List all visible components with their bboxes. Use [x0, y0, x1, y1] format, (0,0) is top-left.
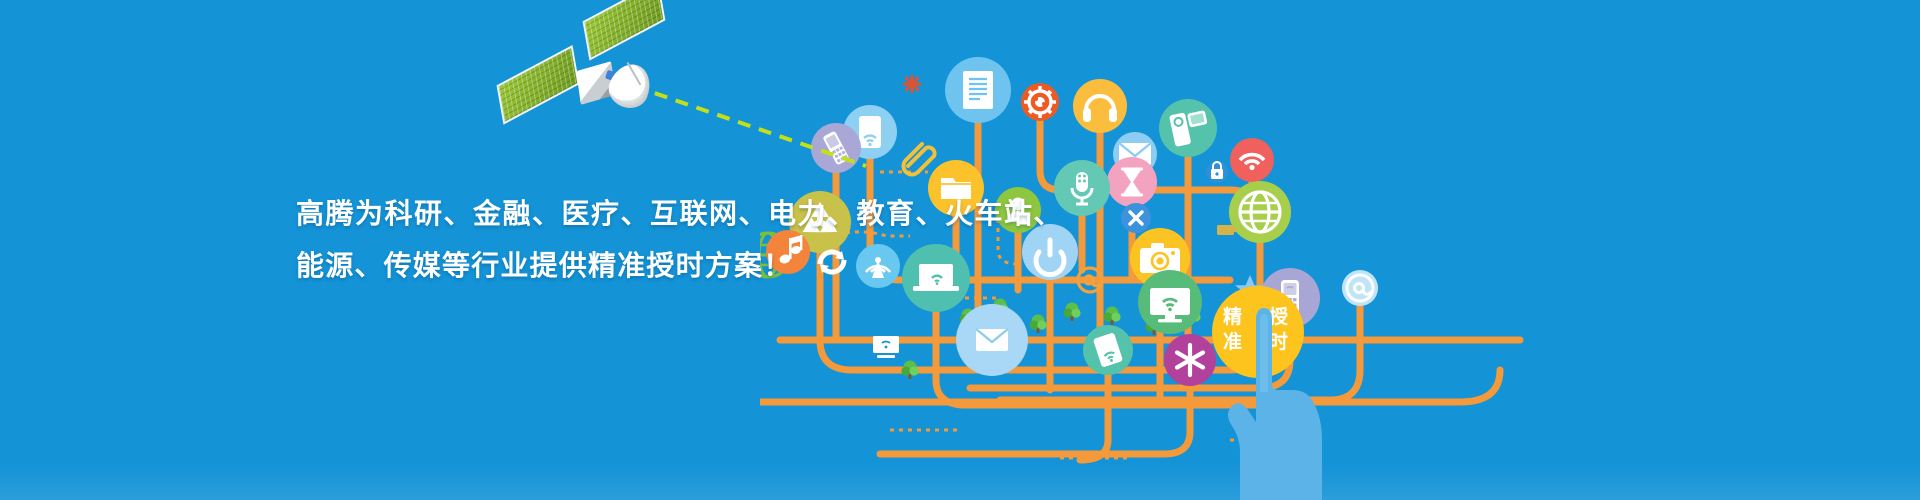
pointing-hand-icon: [1218, 300, 1338, 500]
headline-line-2: 能源、传媒等行业提供精准授时方案！: [296, 240, 916, 292]
headline-line-1: 高腾为科研、金融、医疗、互联网、电力、教育、火车站、: [296, 188, 916, 240]
laptop-wifi-icon: [913, 264, 959, 291]
gear-small-icon: [903, 75, 921, 93]
screen-small-icon: [873, 336, 899, 358]
hero-banner: 高腾为科研、金融、医疗、互联网、电力、教育、火车站、 能源、传媒等行业提供精准授…: [0, 0, 1920, 500]
satellite-solar-panel-lower: [497, 45, 580, 125]
paperclip-icon: [904, 144, 935, 174]
satellite-solar-panel-upper: [583, 0, 666, 61]
document-icon: [963, 71, 993, 109]
envelope-big-icon: [976, 329, 1008, 351]
bubble-headphones: [1073, 79, 1127, 133]
satellite-illustration: [498, 14, 678, 144]
headline-block: 高腾为科研、金融、医疗、互联网、电力、教育、火车站、 能源、传媒等行业提供精准授…: [296, 188, 916, 292]
